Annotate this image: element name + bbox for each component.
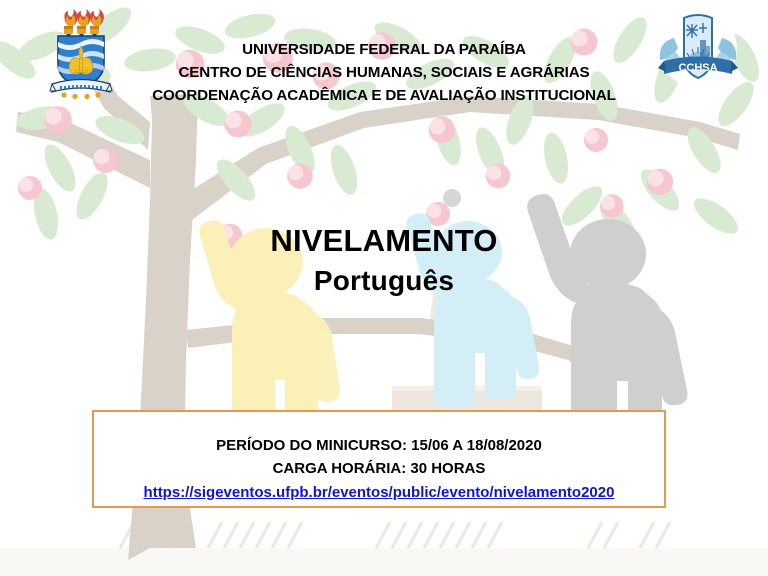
header-line-2: CENTRO DE CIÊNCIAS HUMANAS, SOCIAIS E AG…	[96, 61, 672, 84]
header-institution-text: UNIVERSIDADE FEDERAL DA PARAÍBA CENTRO D…	[96, 38, 672, 107]
page-subtitle: Português	[0, 260, 768, 302]
header-line-3: COORDENAÇÃO ACADÊMICA E DE AVALIAÇÃO INS…	[96, 84, 672, 107]
course-hours-text: CARGA HORÁRIA: 30 HORAS	[94, 457, 664, 480]
poster-canvas: CCHSA UNIVERSIDADE FEDERAL DA PARAÍBA CE…	[0, 0, 768, 576]
cchsa-ribbon-label: CCHSA	[678, 62, 717, 74]
header-band: CCHSA UNIVERSIDADE FEDERAL DA PARAÍBA CE…	[0, 0, 768, 118]
course-period-text: PERÍODO DO MINICURSO: 15/06 A 18/08/2020	[94, 434, 664, 457]
poster-title-block: NIVELAMENTO Português	[0, 222, 768, 302]
ground-group	[0, 522, 768, 576]
header-line-1: UNIVERSIDADE FEDERAL DA PARAÍBA	[96, 38, 672, 61]
course-info-callout: PERÍODO DO MINICURSO: 15/06 A 18/08/2020…	[92, 410, 666, 508]
registration-link[interactable]: https://sigeventos.ufpb.br/eventos/publi…	[94, 480, 664, 506]
page-title: NIVELAMENTO	[0, 222, 768, 260]
